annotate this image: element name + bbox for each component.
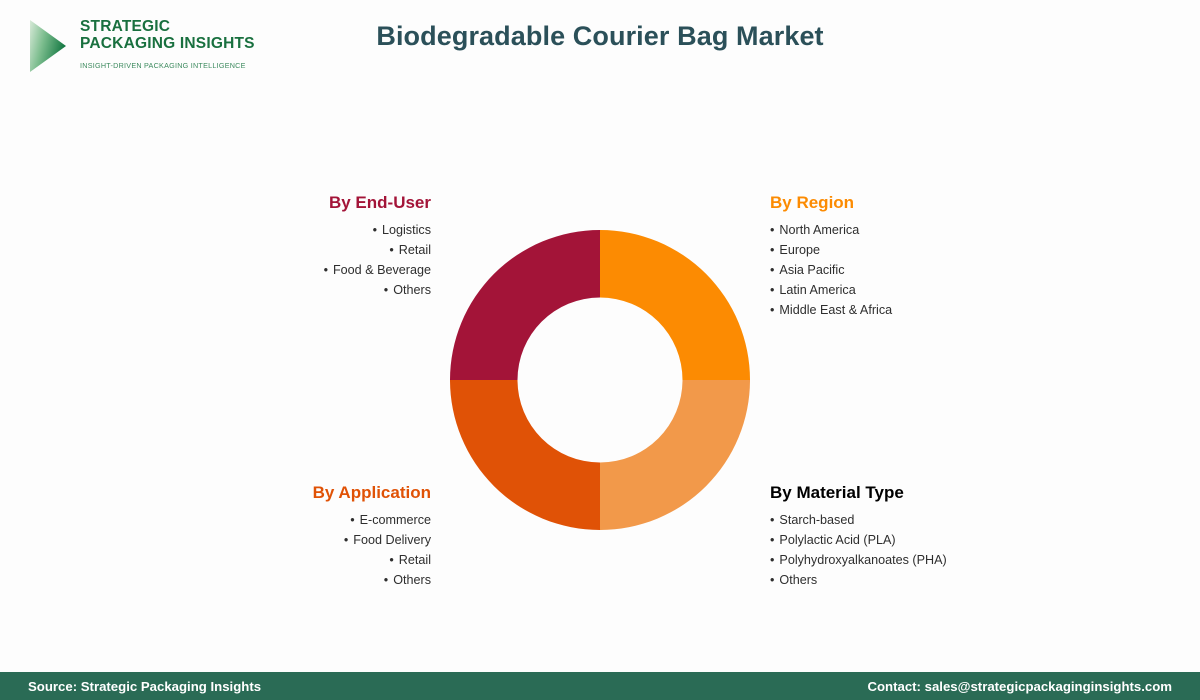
list-item: Polylactic Acid (PLA) <box>770 530 1110 550</box>
category-block-material-type: By Material Type Starch-basedPolylactic … <box>770 483 1110 590</box>
list-item: Food Delivery <box>190 530 431 550</box>
list-item: Middle East & Africa <box>770 300 1100 320</box>
list-item: North America <box>770 220 1100 240</box>
footer-bar: Source: Strategic Packaging Insights Con… <box>0 672 1200 700</box>
list-item: Retail <box>190 240 431 260</box>
page-title: Biodegradable Courier Bag Market <box>0 21 1200 52</box>
category-title-end-user: By End-User <box>190 193 431 213</box>
donut-chart-svg <box>450 230 750 530</box>
donut-slice-by-application[interactable] <box>450 380 600 530</box>
footer-contact[interactable]: Contact: sales@strategicpackaginginsight… <box>867 679 1172 694</box>
category-block-application: By Application E-commerceFood DeliveryRe… <box>190 483 431 590</box>
list-item: Polyhydroxyalkanoates (PHA) <box>770 550 1110 570</box>
category-list-end-user: LogisticsRetailFood & BeverageOthers <box>190 220 431 300</box>
category-block-region: By Region North AmericaEuropeAsia Pacifi… <box>770 193 1100 320</box>
category-list-application: E-commerceFood DeliveryRetailOthers <box>190 510 431 590</box>
category-title-application: By Application <box>190 483 431 503</box>
list-item: Others <box>770 570 1110 590</box>
list-item: Others <box>190 280 431 300</box>
category-title-region: By Region <box>770 193 1100 213</box>
list-item: Food & Beverage <box>190 260 431 280</box>
list-item: E-commerce <box>190 510 431 530</box>
footer-source: Source: Strategic Packaging Insights <box>28 679 261 694</box>
category-list-region: North AmericaEuropeAsia PacificLatin Ame… <box>770 220 1100 320</box>
logo-tagline: INSIGHT-DRIVEN PACKAGING INTELLIGENCE <box>80 61 255 70</box>
donut-slice-by-region[interactable] <box>600 230 750 380</box>
list-item: Retail <box>190 550 431 570</box>
category-title-material-type: By Material Type <box>770 483 1110 503</box>
list-item: Europe <box>770 240 1100 260</box>
list-item: Logistics <box>190 220 431 240</box>
donut-slice-by-material-type[interactable] <box>600 380 750 530</box>
donut-slice-by-end-user[interactable] <box>450 230 600 380</box>
list-item: Asia Pacific <box>770 260 1100 280</box>
list-item: Starch-based <box>770 510 1110 530</box>
list-item: Latin America <box>770 280 1100 300</box>
category-block-end-user: By End-User LogisticsRetailFood & Bevera… <box>190 193 431 300</box>
list-item: Others <box>190 570 431 590</box>
donut-chart <box>450 230 750 530</box>
category-list-material-type: Starch-basedPolylactic Acid (PLA)Polyhyd… <box>770 510 1110 590</box>
